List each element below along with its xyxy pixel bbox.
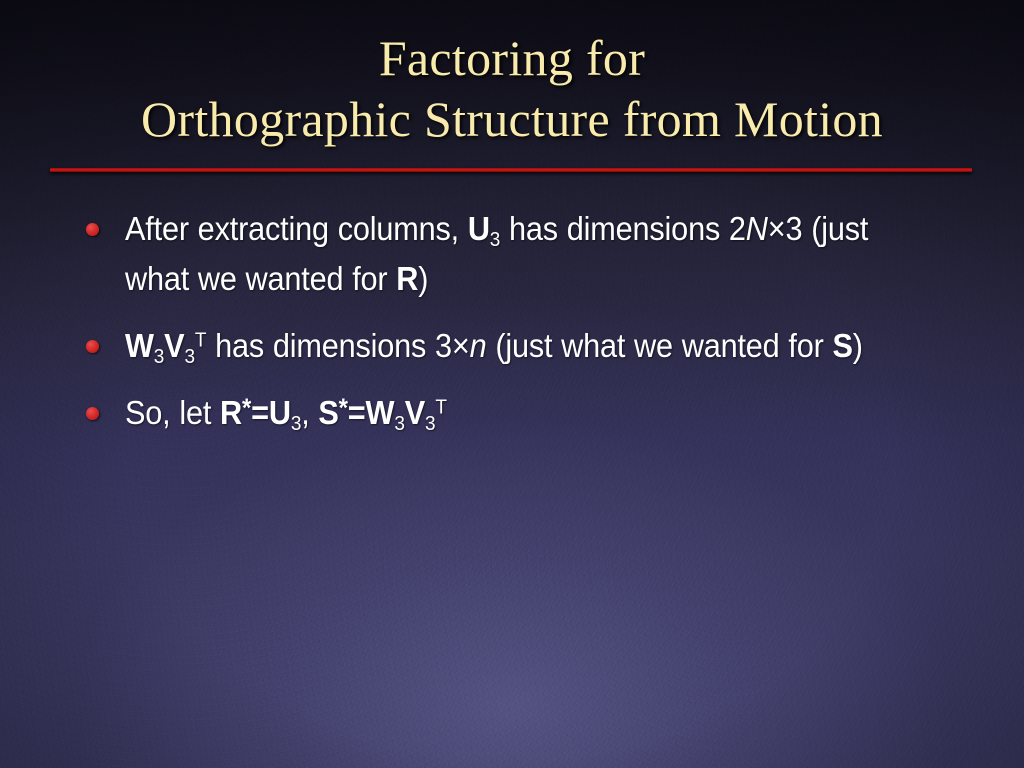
bullet-text-3: So, let R*=U3, S*=W3V3T <box>125 388 885 438</box>
slide-title: Factoring for Orthographic Structure fro… <box>0 28 1024 150</box>
bullet-item-2: W3V3T has dimensions 3×n (just what we w… <box>82 321 942 371</box>
bullet-item-1: After extracting columns, U3 has dimensi… <box>82 204 942 304</box>
bullet-list: After extracting columns, U3 has dimensi… <box>82 204 942 455</box>
bullet-item-3: So, let R*=U3, S*=W3V3T <box>82 388 942 438</box>
bullet-text-1: After extracting columns, U3 has dimensi… <box>125 204 885 304</box>
presentation-slide: Factoring for Orthographic Structure fro… <box>0 0 1024 768</box>
bullet-marker-icon <box>86 407 99 420</box>
bullet-marker-icon <box>86 340 99 353</box>
title-line-1: Factoring for <box>0 28 1024 89</box>
bullet-text-2: W3V3T has dimensions 3×n (just what we w… <box>125 321 885 371</box>
slide-content: Factoring for Orthographic Structure fro… <box>0 0 1024 768</box>
title-line-2: Orthographic Structure from Motion <box>0 89 1024 150</box>
bullet-marker-icon <box>86 223 99 236</box>
title-divider-rule <box>50 168 972 172</box>
